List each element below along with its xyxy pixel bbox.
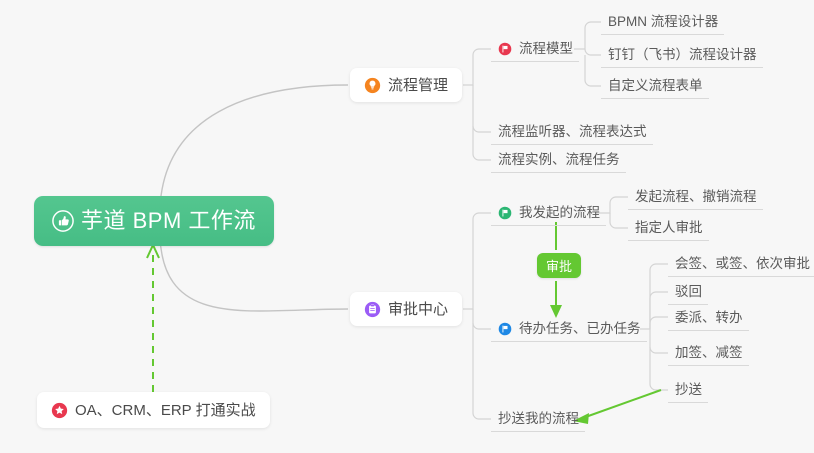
- lightbulb-icon: [364, 77, 381, 94]
- node-process-listener-expression[interactable]: 流程监听器、流程表达式: [491, 119, 653, 145]
- mindmap-canvas: 芋道 BPM 工作流 流程管理 流程模型 BPMN 流程设计器 钉钉（飞书）流程: [0, 0, 814, 453]
- link-root-to-process-management: [160, 85, 348, 207]
- link-root-to-approval-center: [160, 238, 348, 311]
- link-approval-center-to-todo: [473, 309, 491, 329]
- link-process-management-to-listener: [473, 85, 491, 132]
- node-process-instance-task[interactable]: 流程实例、流程任务: [491, 147, 626, 173]
- node-dingtalk-feishu-designer[interactable]: 钉钉（飞书）流程设计器: [601, 42, 763, 68]
- node-custom-process-form[interactable]: 自定义流程表单: [601, 73, 709, 99]
- flag-icon: [498, 42, 512, 56]
- node-label-process-instance-task: 流程实例、流程任务: [498, 153, 620, 167]
- node-label-cc-to-me-process: 抄送我的流程: [498, 412, 579, 426]
- node-bpmn-designer[interactable]: BPMN 流程设计器: [601, 9, 724, 35]
- node-label-dingtalk-feishu-designer: 钉钉（飞书）流程设计器: [608, 48, 757, 62]
- node-label-assignee-approval: 指定人审批: [635, 221, 703, 235]
- branch-label-process-management: 流程管理: [388, 78, 448, 93]
- link-process-management-to-instance: [473, 126, 491, 160]
- relation-badge-approval-label: 审批: [546, 256, 572, 275]
- link-todo-to-addsign: [650, 329, 668, 353]
- node-add-remove-sign[interactable]: 加签、减签: [668, 340, 749, 366]
- relation-integration-arrowhead: [147, 245, 159, 258]
- link-todo-to-delegate: [650, 317, 668, 329]
- node-label-start-cancel-process: 发起流程、撤销流程: [635, 190, 757, 204]
- link-process-model-to-dingtalk: [585, 49, 601, 55]
- node-process-model[interactable]: 流程模型: [491, 36, 579, 62]
- link-approval-center-trunk: [463, 213, 491, 309]
- link-todo-to-cc: [650, 347, 668, 390]
- root-node-label: 芋道 BPM 工作流: [81, 210, 256, 232]
- node-label-add-remove-sign: 加签、减签: [675, 346, 743, 360]
- link-todo-to-reject: [650, 292, 668, 329]
- link-approval-center-to-cc-mine: [473, 323, 491, 419]
- node-label-countersign-orsign-sequential: 会签、或签、依次审批: [675, 257, 810, 271]
- node-label-custom-process-form: 自定义流程表单: [608, 79, 703, 93]
- node-start-cancel-process[interactable]: 发起流程、撤销流程: [628, 184, 763, 210]
- node-countersign-orsign-sequential[interactable]: 会签、或签、依次审批: [668, 251, 814, 277]
- floating-node-label-integration-practice: OA、CRM、ERP 打通实战: [75, 403, 256, 418]
- root-node[interactable]: 芋道 BPM 工作流: [34, 196, 274, 246]
- node-assignee-approval[interactable]: 指定人审批: [628, 215, 709, 241]
- node-my-initiated-process[interactable]: 我发起的流程: [491, 200, 606, 226]
- link-my-process-to-assignee: [610, 213, 628, 228]
- node-label-todo-done-tasks: 待办任务、已办任务: [519, 322, 641, 336]
- node-label-carbon-copy: 抄送: [675, 383, 702, 397]
- star-icon: [51, 402, 68, 419]
- branch-node-approval-center[interactable]: 审批中心: [350, 292, 462, 326]
- relation-cc-line: [580, 390, 661, 419]
- flag-icon: [498, 206, 512, 220]
- relation-badge-approval[interactable]: 审批: [537, 253, 581, 278]
- node-delegate-transfer[interactable]: 委派、转办: [668, 305, 749, 331]
- node-label-my-initiated-process: 我发起的流程: [519, 206, 600, 220]
- node-label-process-model: 流程模型: [519, 42, 573, 56]
- node-cc-to-me-process[interactable]: 抄送我的流程: [491, 406, 585, 432]
- flag-icon: [498, 322, 512, 336]
- node-label-bpmn-designer: BPMN 流程设计器: [608, 15, 718, 29]
- thumbs-up-icon: [52, 210, 74, 232]
- clipboard-icon: [364, 301, 381, 318]
- branch-label-approval-center: 审批中心: [388, 302, 448, 317]
- node-label-process-listener-expression: 流程监听器、流程表达式: [498, 125, 647, 139]
- floating-node-integration-practice[interactable]: OA、CRM、ERP 打通实战: [37, 392, 270, 428]
- node-todo-done-tasks[interactable]: 待办任务、已办任务: [491, 316, 647, 342]
- node-label-reject: 驳回: [675, 285, 702, 299]
- node-label-delegate-transfer: 委派、转办: [675, 311, 743, 325]
- branch-node-process-management[interactable]: 流程管理: [350, 68, 462, 102]
- link-process-model-to-custom-form: [585, 55, 601, 86]
- node-reject[interactable]: 驳回: [668, 279, 708, 305]
- link-process-management-trunk: [463, 49, 491, 85]
- node-carbon-copy[interactable]: 抄送: [668, 377, 708, 403]
